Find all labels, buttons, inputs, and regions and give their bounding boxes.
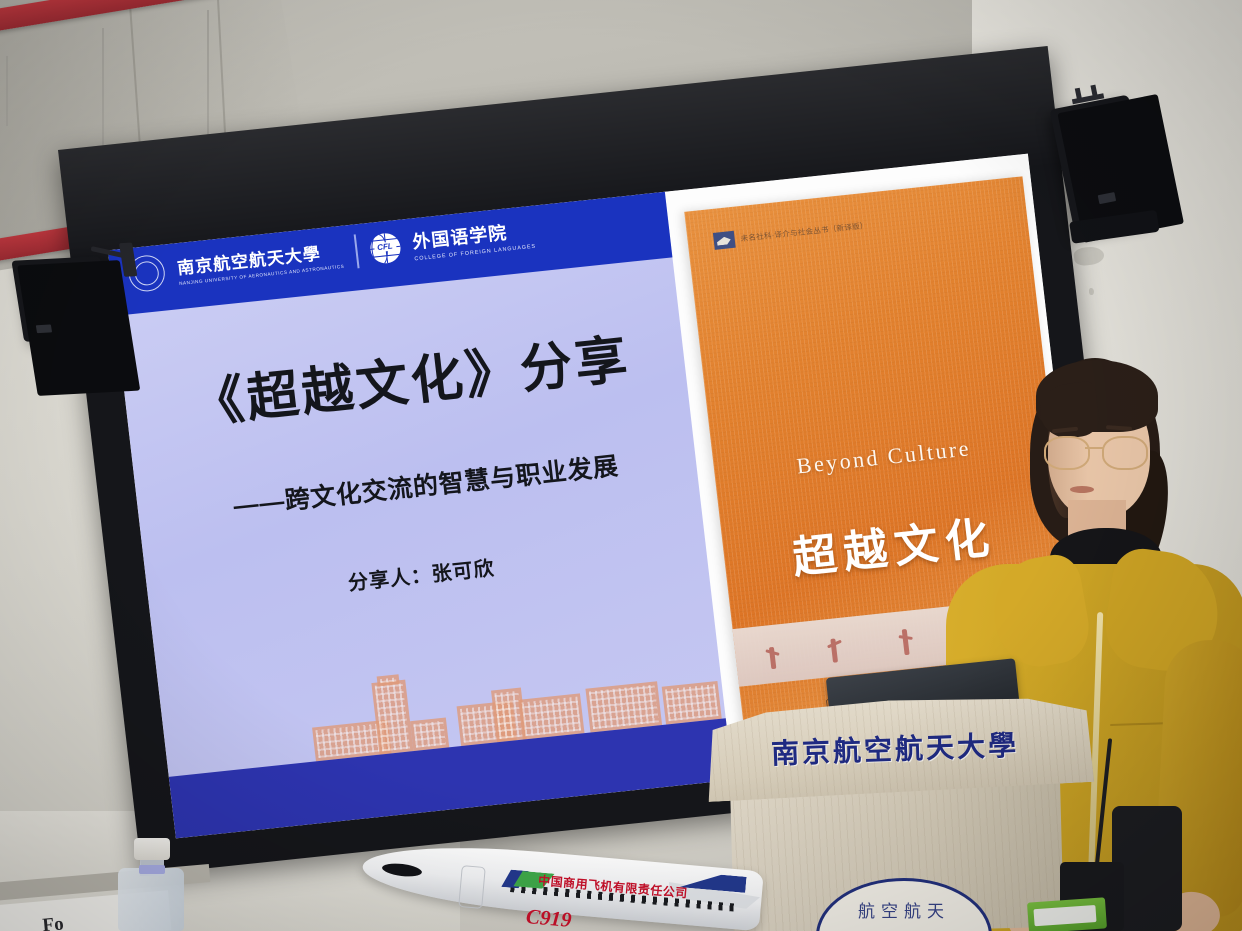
ceiling-hanger-rod [6,56,8,126]
wall-mounted-speaker-left [11,256,112,342]
aircraft-door [458,865,486,909]
eyeglasses-icon [1044,436,1152,466]
bottle-body [118,868,184,931]
model-aircraft: 中国商用飞机有限责任公司 C919 [362,836,792,931]
publisher-mark-icon [713,231,736,250]
cfl-logo-text: CFL [373,241,396,252]
speaker-badge [36,324,52,333]
bottle-cap [134,838,170,860]
podium-emblem-text: 航空航天 [819,897,989,922]
name-card-text: Fo [42,913,65,931]
green-box-label [1033,905,1096,926]
bottle-label-ring [139,865,165,874]
aircraft-model-text: C919 [525,904,573,931]
green-box-object [1027,897,1107,931]
wall-paint-chip [1089,288,1094,295]
lecture-hall-photo: 未名社科·译介与社会丛书（新译版） Beyond Culture 超越文化 〔美… [0,0,1242,931]
mouth [1070,486,1094,493]
ceiling-hanger-rod [207,10,209,135]
header-divider [354,234,359,268]
water-bottle[interactable] [118,838,184,931]
globe-icon: CFL [368,232,401,265]
